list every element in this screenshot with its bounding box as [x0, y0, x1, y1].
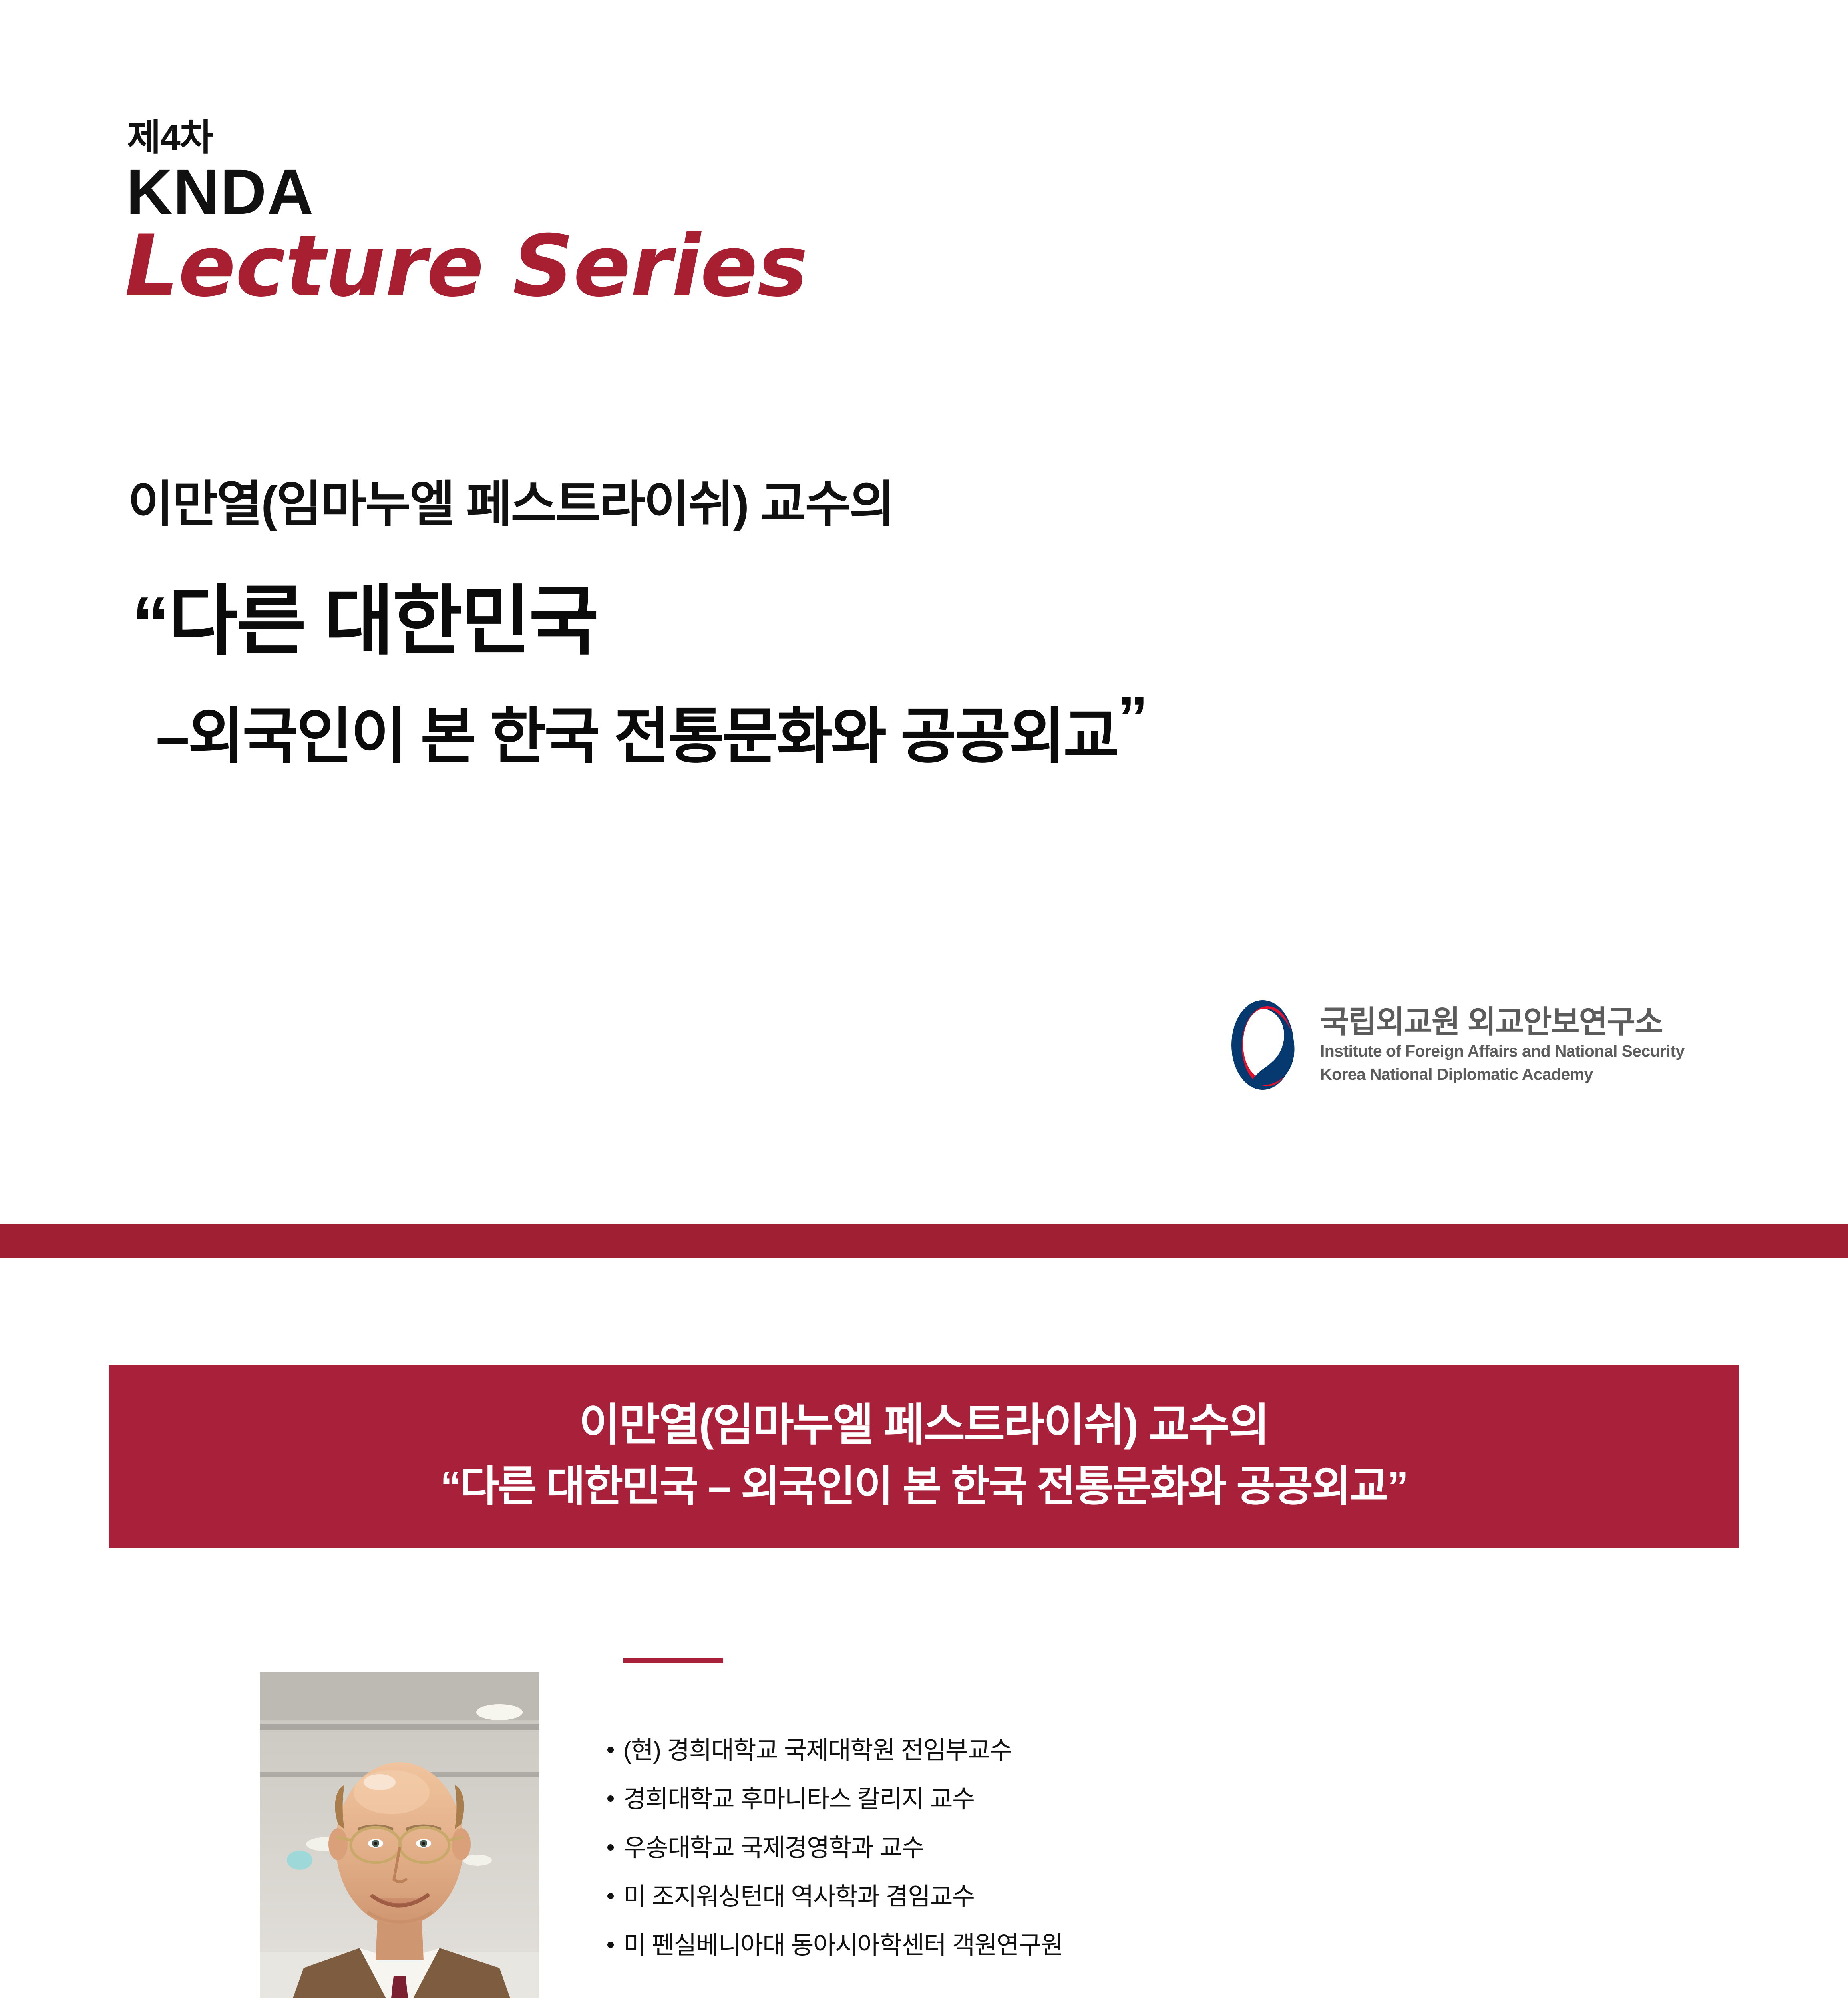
bio-text: 미 펜실베니아대 동아시아학센터 객원연구원 [623, 1933, 1063, 1958]
main-title-line1-text: 다른 대한민국 [168, 579, 597, 664]
bio-text: (현) 경희대학교 국제대학원 전임부교수 [623, 1738, 1012, 1763]
brand-knda: KNDA [126, 160, 314, 224]
logo-korean-name: 국립외교원 외교안보연구소 [1320, 1005, 1685, 1039]
section-divider-bar [0, 1224, 1848, 1258]
banner-title-line: “다른 대한민국 – 외국인이 본 한국 전통문화와 공공외교” [440, 1459, 1408, 1514]
brand-lecture-series: Lecture Series [125, 224, 808, 308]
bullet-dot-icon [607, 1844, 614, 1851]
bullet-dot-icon [607, 1747, 614, 1753]
speaker-bio-list: (현) 경희대학교 국제대학원 전임부교수 경희대학교 후마니타스 칼리지 교수… [607, 1738, 1566, 1982]
korea-government-taegeuk-icon [1223, 999, 1307, 1091]
main-title-line1: “다른 대한민국 [132, 559, 597, 669]
header-speaker-line: 이만열(임마누엘 페스트라이쉬) 교수의 [128, 464, 894, 535]
bio-text: 우송대학교 국제경영학과 교수 [623, 1836, 924, 1861]
banner-close-quote: ” [1387, 1463, 1407, 1510]
list-item: 미 펜실베니아대 동아시아학센터 객원연구원 [607, 1933, 1566, 1958]
bio-text: 경희대학교 후마니타스 칼리지 교수 [623, 1787, 974, 1812]
lecture-title-banner: 이만열(임마누엘 페스트라이쉬) 교수의 “다른 대한민국 – 외국인이 본 한… [109, 1365, 1739, 1548]
bio-rule-top [623, 1658, 723, 1663]
list-item: 경희대학교 후마니타스 칼리지 교수 [607, 1787, 1566, 1812]
bullet-dot-icon [607, 1893, 614, 1899]
bio-text: 미 조지워싱턴대 역사학과 겸임교수 [623, 1885, 974, 1909]
speaker-portrait-photo [260, 1672, 539, 1998]
bullet-dot-icon [607, 1795, 614, 1802]
banner-open-quote: “ [440, 1463, 460, 1510]
logo-english-line2: Korea National Diplomatic Academy [1320, 1063, 1685, 1085]
banner-speaker-line: 이만열(임마누엘 페스트라이쉬) 교수의 [579, 1399, 1268, 1451]
open-quote-glyph: “ [132, 581, 168, 666]
bullet-dot-icon [607, 1942, 614, 1948]
logo-english-line1: Institute of Foreign Affairs and Nationa… [1320, 1040, 1685, 1062]
logo-text-block: 국립외교원 외교안보연구소 Institute of Foreign Affai… [1320, 1005, 1685, 1085]
main-title-line2-text: –외국인이 본 한국 전통문화와 공공외교 [156, 702, 1118, 770]
close-quote-glyph: ” [1118, 684, 1146, 752]
series-number: 제4차 [127, 108, 213, 161]
organization-logo: 국립외교원 외교안보연구소 Institute of Foreign Affai… [1223, 999, 1685, 1091]
main-title-line2: –외국인이 본 한국 전통문화와 공공외교” [156, 683, 1146, 775]
poster-header: 제4차 KNDA Lecture Series 이만열(임마누엘 페스트라이쉬)… [0, 0, 1848, 1224]
list-item: 우송대학교 국제경영학과 교수 [607, 1836, 1566, 1861]
list-item: 미 조지워싱턴대 역사학과 겸임교수 [607, 1885, 1566, 1909]
banner-title-text: 다른 대한민국 – 외국인이 본 한국 전통문화와 공공외교 [460, 1463, 1388, 1510]
list-item: (현) 경희대학교 국제대학원 전임부교수 [607, 1738, 1566, 1763]
speaker-photo-block: 이 만 열 [260, 1672, 539, 1998]
